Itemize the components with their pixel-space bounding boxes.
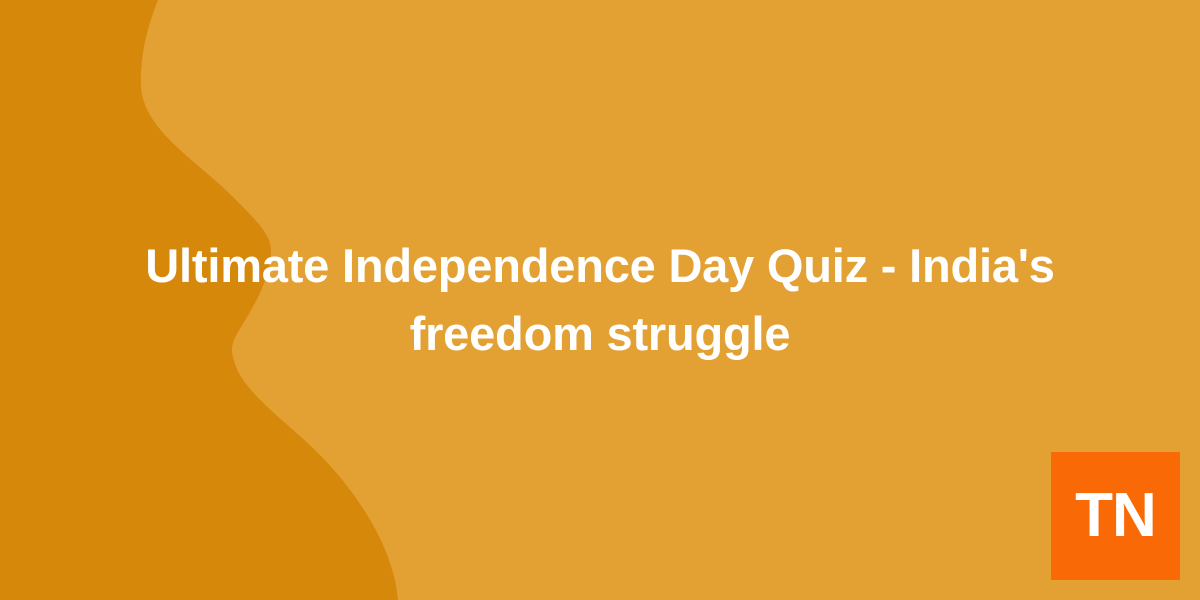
brand-logo-text: TN [1075, 485, 1156, 547]
page-title: Ultimate Independence Day Quiz - India's… [0, 0, 1200, 600]
brand-logo[interactable]: TN [1051, 452, 1180, 580]
headline-line-2: freedom struggle [410, 300, 791, 368]
headline-line-1: Ultimate Independence Day Quiz - India's [145, 232, 1054, 300]
quiz-banner: Ultimate Independence Day Quiz - India's… [0, 0, 1200, 600]
